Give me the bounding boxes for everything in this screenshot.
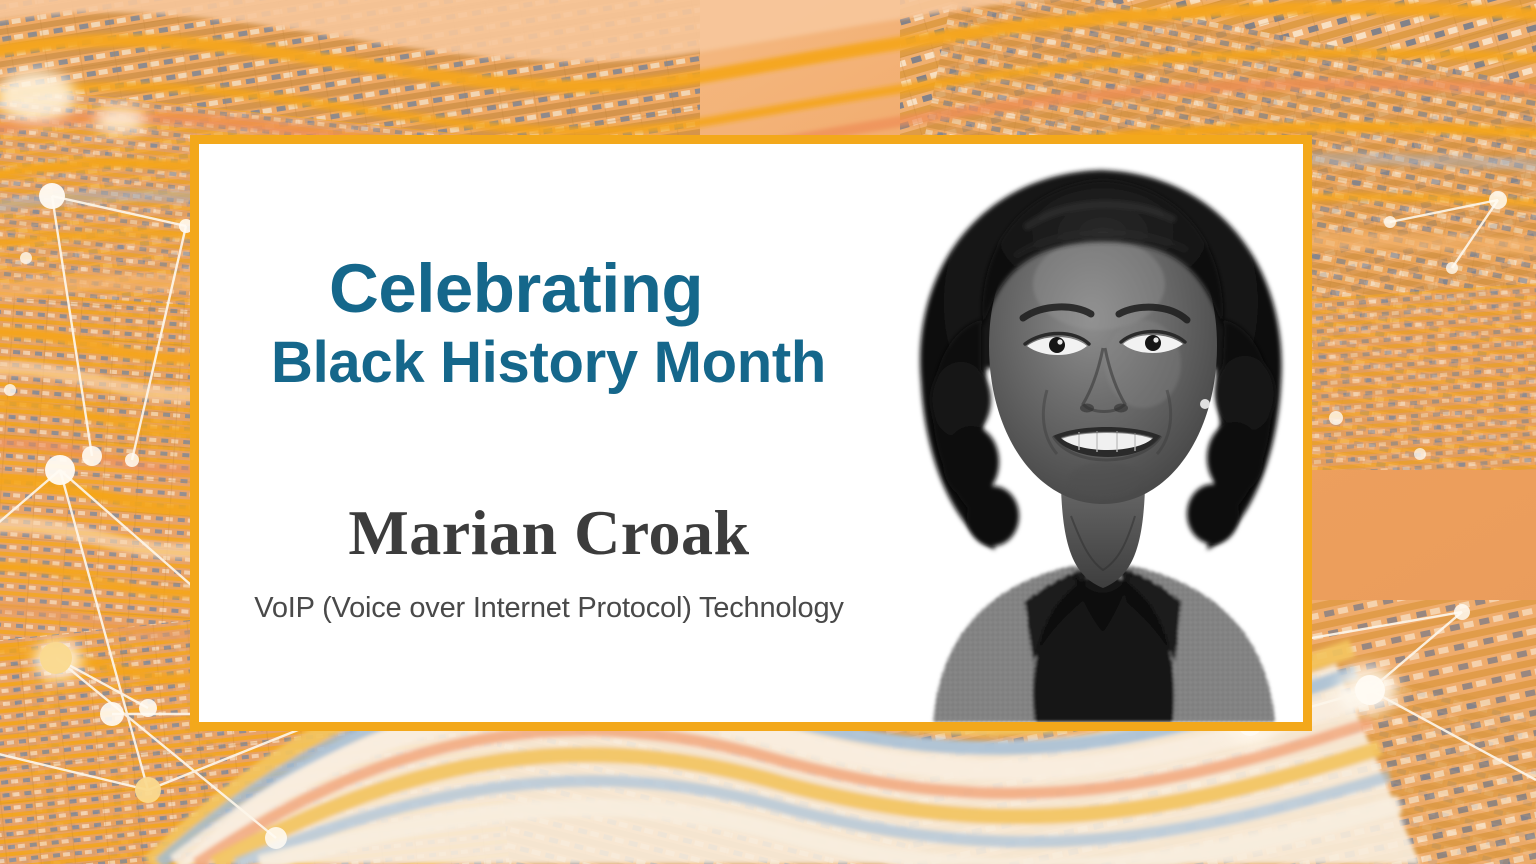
page-title-line2: Black History Month bbox=[271, 329, 889, 397]
person-subtitle: VoIP (Voice over Internet Protocol) Tech… bbox=[219, 592, 879, 625]
heading-block: Celebrating Black History Month bbox=[329, 254, 889, 397]
page-title-line1: Celebrating bbox=[329, 254, 889, 323]
portrait-container bbox=[873, 144, 1303, 722]
person-block: Marian Croak VoIP (Voice over Internet P… bbox=[219, 499, 879, 625]
person-name: Marian Croak bbox=[219, 499, 879, 566]
slide-canvas: Celebrating Black History Month Marian C… bbox=[0, 0, 1536, 864]
card-text-column: Celebrating Black History Month Marian C… bbox=[199, 144, 899, 722]
content-card: Celebrating Black History Month Marian C… bbox=[190, 135, 1312, 731]
portrait-photo bbox=[875, 144, 1303, 722]
